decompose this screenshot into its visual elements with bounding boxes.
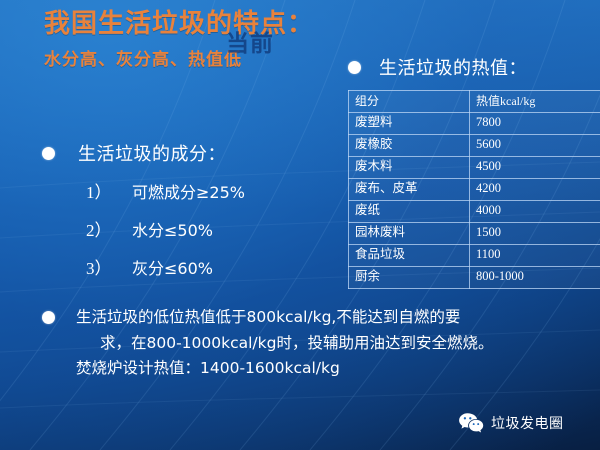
table-row: 废纸 4000 (349, 201, 600, 223)
note-section: 生活垃圾的低位热值低于800kcal/kg,不能达到自燃的要 求，在800-10… (42, 305, 562, 382)
table-cell-heatvalue: 1100 (470, 245, 600, 267)
slide-canvas: 我国生活垃圾的特点： 当前 水分高、灰分高、热值低 生活垃圾的成分： 1） 可燃… (0, 0, 600, 450)
table-cell-component: 园林废料 (349, 223, 470, 245)
note-line-2: 求，在800-1000kcal/kg时，投辅助用油达到安全燃烧。 (76, 331, 493, 357)
page-subtitle: 水分高、灰分高、热值低 (44, 45, 364, 70)
note-paragraph: 生活垃圾的低位热值低于800kcal/kg,不能达到自燃的要 求，在800-10… (76, 305, 493, 382)
table-row: 食品垃圾 1100 (349, 245, 600, 267)
heat-value-section: 生活垃圾的热值： 组分 热值kcal/kg 废塑料 7800 废橡胶 5600 … (348, 54, 590, 289)
ghost-overlay-title: 当前 (226, 24, 274, 58)
wechat-account-badge: 垃圾发电圈 (458, 412, 564, 434)
table-cell-component: 废塑料 (349, 113, 470, 135)
list-item-label: 水分≤50% (132, 217, 213, 241)
table-cell-component: 废纸 (349, 201, 470, 223)
table-header-row: 组分 热值kcal/kg (349, 91, 600, 113)
wechat-account-name: 垃圾发电圈 (491, 413, 564, 433)
list-item-index: 1） (86, 178, 132, 203)
table-cell-heatvalue: 4500 (470, 157, 600, 179)
list-item-index: 2） (86, 216, 132, 241)
table-row: 园林废料 1500 (349, 223, 600, 245)
table-row: 厨余 800-1000 (349, 267, 600, 289)
table-row: 废布、皮革 4200 (349, 179, 600, 201)
list-item: 3） 灰分≤60% (86, 254, 342, 279)
table-cell-component: 废橡胶 (349, 135, 470, 157)
heat-value-heading-row: 生活垃圾的热值： (348, 54, 590, 80)
list-item: 2） 水分≤50% (86, 216, 342, 241)
table-header-cell-heatvalue: 热值kcal/kg (470, 91, 600, 113)
list-item-label: 可燃成分≥25% (132, 179, 245, 203)
bullet-dot-icon (348, 61, 361, 74)
composition-heading-row: 生活垃圾的成分： (42, 140, 342, 166)
composition-list: 1） 可燃成分≥25% 2） 水分≤50% 3） 灰分≤60% (42, 178, 342, 279)
table-cell-component: 厨余 (349, 267, 470, 289)
page-title: 我国生活垃圾的特点： (44, 10, 364, 40)
composition-section: 生活垃圾的成分： 1） 可燃成分≥25% 2） 水分≤50% 3） 灰分≤60% (42, 140, 342, 292)
table-row: 废木料 4500 (349, 157, 600, 179)
bullet-dot-wrap (42, 305, 55, 329)
title-block: 我国生活垃圾的特点： 当前 水分高、灰分高、热值低 (44, 10, 364, 70)
note-row: 生活垃圾的低位热值低于800kcal/kg,不能达到自燃的要 求，在800-10… (42, 305, 562, 382)
table-cell-heatvalue: 7800 (470, 113, 600, 135)
note-line-1: 生活垃圾的低位热值低于800kcal/kg,不能达到自燃的要 (76, 305, 493, 331)
list-item-index: 3） (86, 254, 132, 279)
list-item: 1） 可燃成分≥25% (86, 178, 342, 203)
table-row: 废橡胶 5600 (349, 135, 600, 157)
table-cell-heatvalue: 4000 (470, 201, 600, 223)
table-cell-heatvalue: 1500 (470, 223, 600, 245)
table-cell-component: 废木料 (349, 157, 470, 179)
note-line-3: 焚烧炉设计热值：1400-1600kcal/kg (76, 356, 493, 382)
table-cell-heatvalue: 5600 (470, 135, 600, 157)
bullet-dot-icon (42, 311, 55, 324)
composition-heading: 生活垃圾的成分： (78, 140, 226, 166)
wechat-icon (458, 412, 484, 434)
table-cell-heatvalue: 800-1000 (470, 267, 600, 289)
heat-value-table: 组分 热值kcal/kg 废塑料 7800 废橡胶 5600 废木料 4500 … (348, 90, 600, 289)
table-cell-component: 废布、皮革 (349, 179, 470, 201)
table-cell-heatvalue: 4200 (470, 179, 600, 201)
table-cell-component: 食品垃圾 (349, 245, 470, 267)
heat-value-heading: 生活垃圾的热值： (379, 54, 527, 80)
list-item-label: 灰分≤60% (132, 255, 213, 279)
bullet-dot-icon (42, 147, 55, 160)
table-header-cell-component: 组分 (349, 91, 470, 113)
table-row: 废塑料 7800 (349, 113, 600, 135)
